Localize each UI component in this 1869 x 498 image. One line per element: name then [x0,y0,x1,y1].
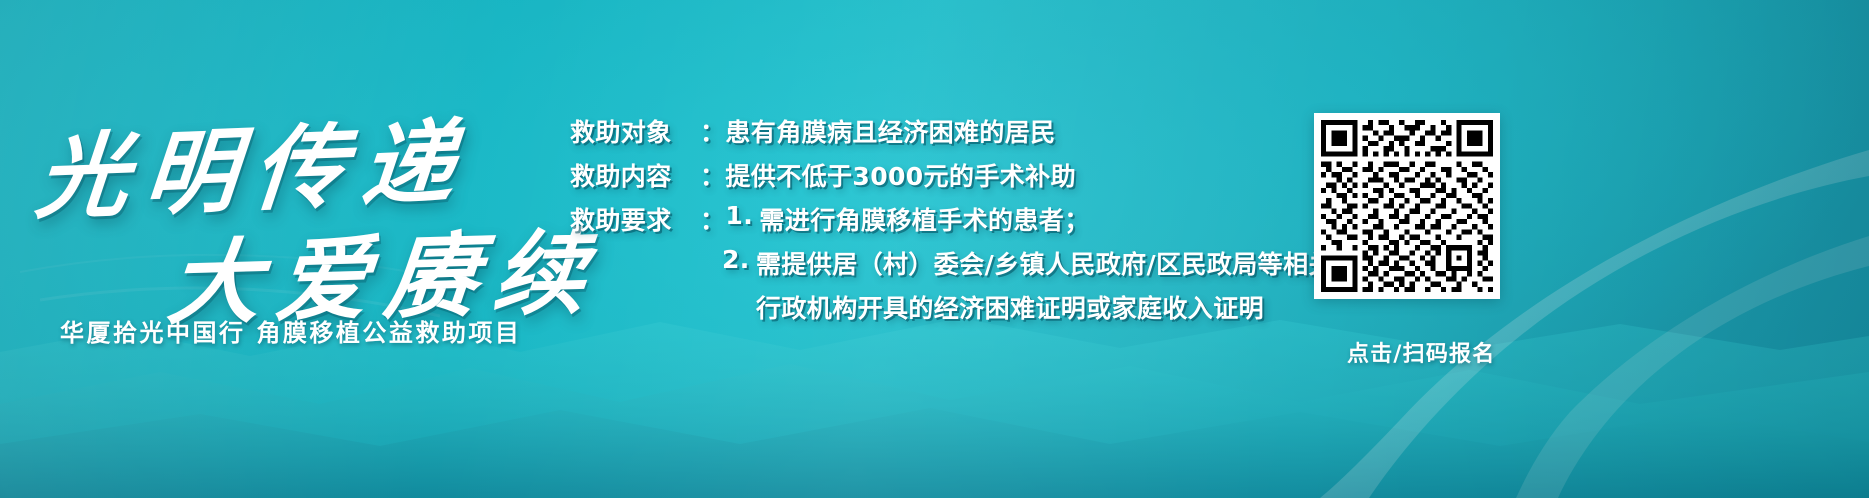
info-row-target: 救助对象 ： 患有角膜病且经济困难的居民 [570,113,1310,157]
aid-info-list: 救助对象 ： 患有角膜病且经济困难的居民 救助内容 ： 提供不低于3000元的手… [570,113,1310,333]
requirement-index-2: 2. [722,245,756,274]
info-label-requirement: 救助要求 [570,201,700,237]
info-colon-content: ： [700,157,725,193]
scan-to-register-cta[interactable]: 点击/扫码报名 [1347,336,1495,368]
info-value-content: 提供不低于3000元的手术补助 [725,157,1076,193]
promo-banner: 光明传递 大爱赓续 华厦拾光中国行 角膜移植公益救助项目 救助对象 ： 患有角膜… [0,0,1869,498]
qr-code[interactable] [1314,113,1500,299]
info-label-target: 救助对象 [570,113,700,149]
project-tagline: 华厦拾光中国行 角膜移植公益救助项目 [60,313,521,348]
headline-block: 光明传递 大爱赓续 [30,96,590,316]
info-colon-requirement: ： [700,201,725,237]
requirement-value-2-continued: 行政机构开具的经济困难证明或家庭收入证明 [756,289,1264,325]
qr-code-image [1321,120,1493,292]
info-row-requirement-1: 救助要求 ： 1. 需进行角膜移植手术的患者； [570,201,1310,245]
requirement-value-1: 需进行角膜移植手术的患者； [759,201,1089,237]
info-row-content: 救助内容 ： 提供不低于3000元的手术补助 [570,157,1310,201]
requirement-value-2: 需提供居（村）委会/乡镇人民政府/区民政局等相关 [756,245,1334,281]
requirement-index-1: 1. [725,201,759,230]
info-row-requirement-2-continued: 行政机构开具的经济困难证明或家庭收入证明 [570,289,1310,333]
info-label-content: 救助内容 [570,157,700,193]
info-value-target: 患有角膜病且经济困难的居民 [725,113,1055,149]
info-colon-target: ： [700,113,725,149]
info-row-requirement-2: 2. 需提供居（村）委会/乡镇人民政府/区民政局等相关 [570,245,1310,289]
